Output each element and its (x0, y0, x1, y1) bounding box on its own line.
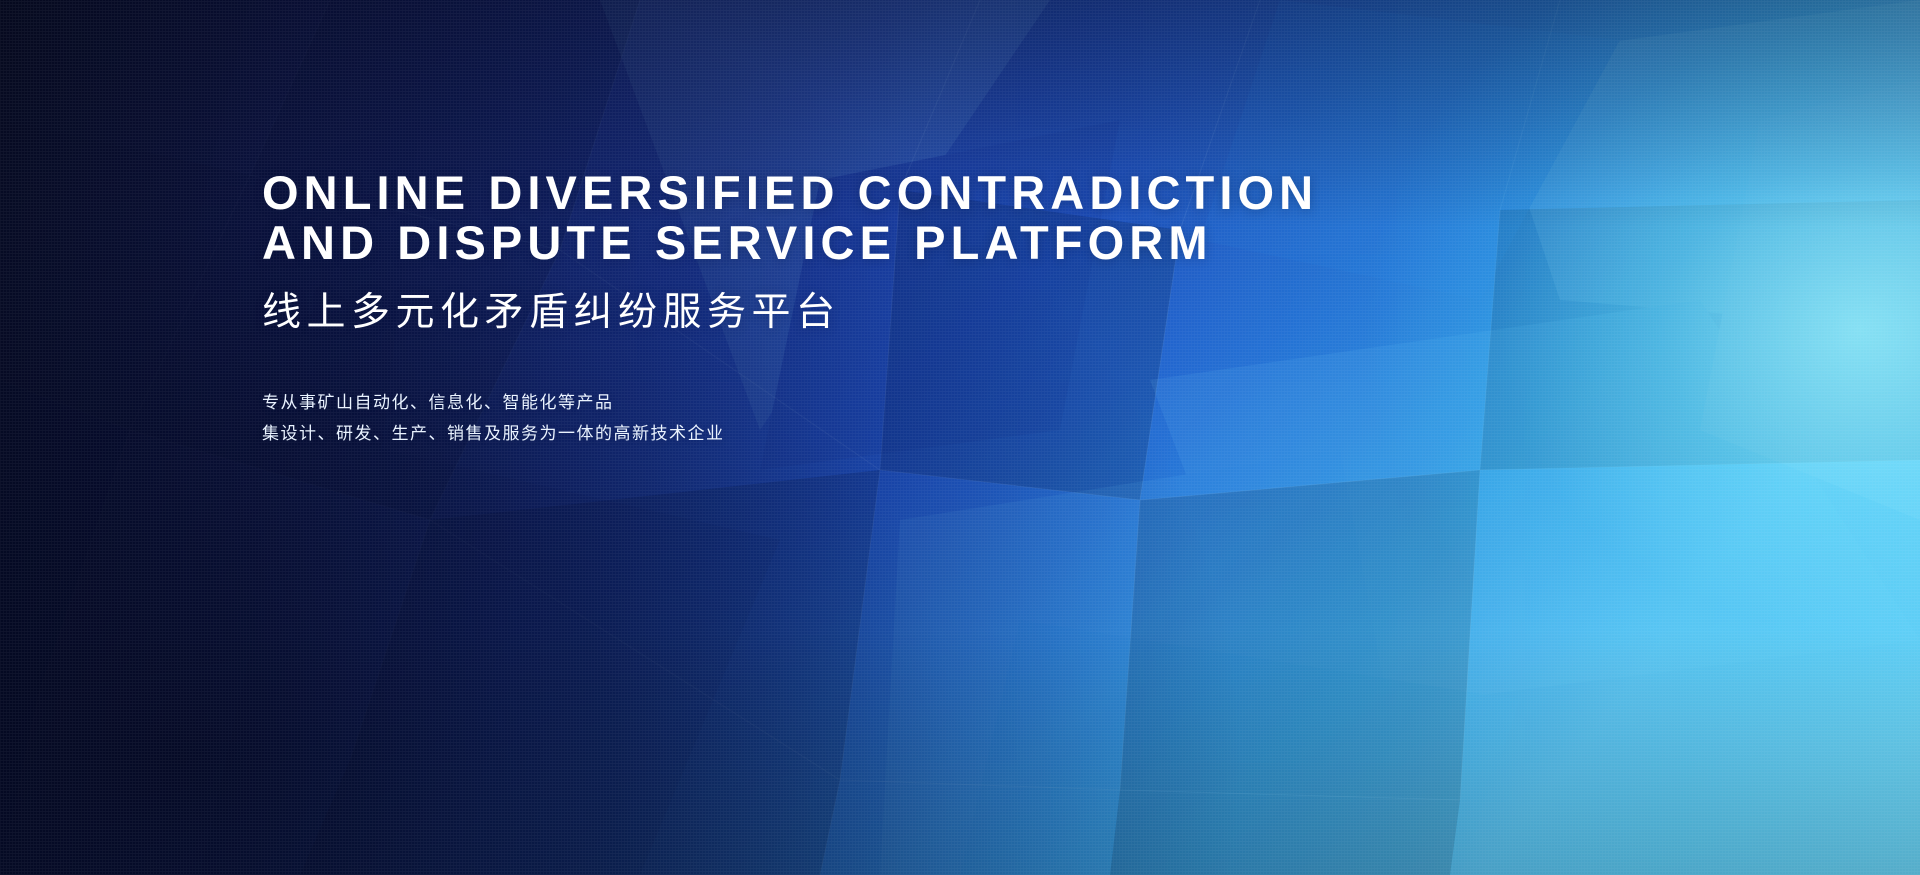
hero-banner: ONLINE DIVERSIFIED CONTRADICTION AND DIS… (0, 0, 1920, 875)
hero-description-line-1: 专从事矿山自动化、信息化、智能化等产品 (262, 387, 1382, 418)
hero-description-line-2: 集设计、研发、生产、销售及服务为一体的高新技术企业 (262, 418, 1382, 449)
hero-title-line-2: AND DISPUTE SERVICE PLATFORM (262, 218, 1382, 268)
hero-subtitle-chinese: 线上多元化矛盾纠纷服务平台 (262, 290, 1382, 336)
hero-content: ONLINE DIVERSIFIED CONTRADICTION AND DIS… (262, 168, 1382, 449)
hero-title-line-1: ONLINE DIVERSIFIED CONTRADICTION (262, 168, 1382, 218)
hero-title: ONLINE DIVERSIFIED CONTRADICTION AND DIS… (262, 168, 1382, 268)
hero-description: 专从事矿山自动化、信息化、智能化等产品 集设计、研发、生产、销售及服务为一体的高… (262, 387, 1382, 449)
